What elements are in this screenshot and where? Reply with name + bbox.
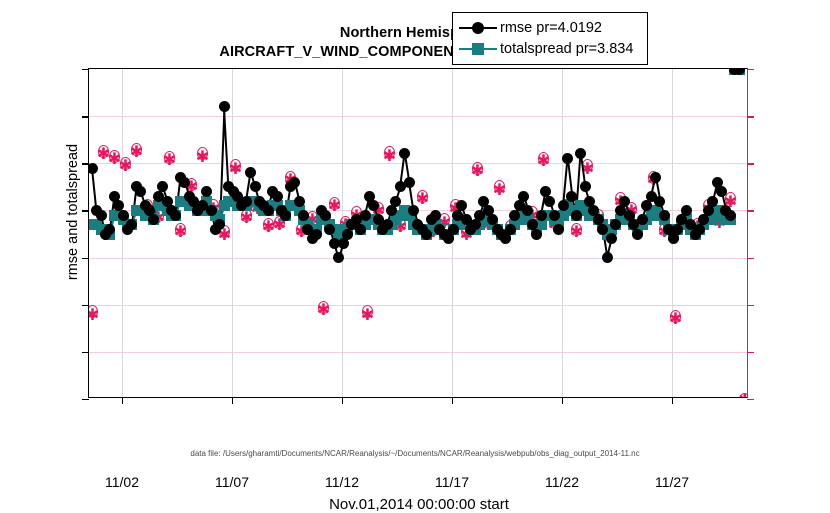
obs-assimilated-marker: ✱ [119, 159, 132, 172]
chart-title-line1: Northern Hemisphere [0, 24, 830, 43]
legend-item-totalspread: totalspread pr=3.834 [459, 38, 641, 59]
rmse-point [707, 196, 718, 207]
rmse-point [390, 196, 401, 207]
rmse-point [382, 219, 393, 230]
y-tick-right [747, 163, 754, 164]
rmse-point [135, 186, 146, 197]
rmse-point [734, 69, 745, 75]
rmse-point [470, 219, 481, 230]
rmse-point [360, 210, 371, 221]
chart-title: Northern Hemisphere AIRCRAFT_V_WIND_COMP… [0, 24, 830, 62]
x-tick-label: 11/27 [637, 474, 707, 490]
obs-assimilated-marker: ✱ [163, 153, 176, 166]
rmse-point [509, 210, 520, 221]
rmse-point [342, 229, 353, 240]
x-tick-label: 11/12 [307, 474, 377, 490]
rmse-point [355, 224, 366, 235]
rmse-point [571, 210, 582, 221]
y-tick-right [747, 305, 754, 306]
rmse-point [681, 205, 692, 216]
obs-assimilated-marker: ✱ [174, 225, 187, 238]
rmse-point [206, 205, 217, 216]
rmse-point [118, 210, 129, 221]
rmse-point [558, 200, 569, 211]
x-tick-label: 11/17 [417, 474, 487, 490]
rmse-point [619, 196, 630, 207]
rmse-point [89, 163, 98, 174]
rmse-point [399, 148, 410, 159]
rmse-point [672, 224, 683, 235]
obs-assimilated-marker: ✱ [738, 393, 747, 398]
rmse-point [602, 252, 613, 263]
rmse-point [421, 229, 432, 240]
x-tick-label: 11/22 [527, 474, 597, 490]
legend-swatch-rmse [459, 20, 497, 36]
x-tick [342, 397, 343, 404]
rmse-point [96, 210, 107, 221]
gridline-vertical [232, 69, 233, 397]
rmse-point [219, 101, 230, 112]
rmse-point [553, 224, 564, 235]
y-tick-left [82, 305, 89, 306]
rmse-point [668, 233, 679, 244]
obs-assimilated-marker: ✱ [570, 225, 583, 238]
rmse-point [654, 196, 665, 207]
obs-assimilated-marker: ✱ [196, 150, 209, 163]
rmse-point [408, 205, 419, 216]
y-tick-left [82, 116, 89, 117]
y-tick-left [82, 258, 89, 259]
rmse-point [716, 186, 727, 197]
rmse-point [298, 210, 309, 221]
rmse-point [179, 177, 190, 188]
gridline-horizontal [89, 258, 747, 259]
y-tick-right [747, 210, 754, 211]
rmse-point [170, 210, 181, 221]
legend-label-totalspread: totalspread pr=3.834 [500, 41, 633, 57]
obs-assimilated-marker: ✱ [317, 303, 330, 316]
rmse-point [320, 210, 331, 221]
gridline-horizontal [89, 305, 747, 306]
obs-assimilated-marker: ✱ [537, 154, 550, 167]
obs-assimilated-marker: ✱ [89, 308, 99, 321]
square-marker-icon [472, 43, 484, 55]
legend-swatch-totalspread [459, 41, 497, 57]
rmse-point [703, 205, 714, 216]
y-tick-left [82, 399, 89, 400]
x-tick [672, 397, 673, 404]
rmse-point [650, 172, 661, 183]
rmse-point [280, 210, 291, 221]
legend-label-rmse: rmse pr=4.0192 [500, 20, 602, 36]
obs-assimilated-marker: ✱ [130, 145, 143, 158]
obs-assimilated-marker: ✱ [383, 149, 396, 162]
rmse-point [338, 238, 349, 249]
gridline-horizontal [89, 163, 747, 164]
rmse-point [562, 153, 573, 164]
x-tick-label: 11/02 [87, 474, 157, 490]
y-axis-title-left: rmse and totalspread [65, 2, 81, 422]
plot-canvas: ✱✱✱✱✱✱✱✱✱✱✱✱✱✱✱✱✱✱✱✱✱✱✱✱✱✱✱✱✱✱✱✱✱✱✱✱✱✱✱✱… [89, 69, 747, 397]
rmse-point [580, 181, 591, 192]
y-tick-right [747, 116, 754, 117]
y-tick-left [82, 163, 89, 164]
y-tick-left [82, 210, 89, 211]
rmse-point [386, 205, 397, 216]
obs-assimilated-marker: ✱ [493, 183, 506, 196]
rmse-point [549, 210, 560, 221]
legend: rmse pr=4.0192 totalspread pr=3.834 [452, 12, 648, 65]
x-tick [122, 397, 123, 404]
rmse-point [289, 177, 300, 188]
rmse-point [575, 148, 586, 159]
rmse-point [500, 233, 511, 244]
rmse-point [597, 224, 608, 235]
rmse-point [448, 224, 459, 235]
y-tick-right [747, 258, 754, 259]
rmse-point [272, 191, 283, 202]
rmse-point [659, 210, 670, 221]
x-tick [232, 397, 233, 404]
obs-assimilated-marker: ✱ [416, 192, 429, 205]
y-tick-right [747, 352, 754, 353]
obs-assimilated-marker: ✱ [361, 308, 374, 321]
obs-assimilated-marker: ✱ [669, 312, 682, 325]
data-file-note: data file: /Users/gharamti/Documents/NCA… [0, 449, 830, 458]
rmse-point [536, 210, 547, 221]
obs-assimilated-marker: ✱ [328, 199, 341, 212]
y-tick-left [82, 352, 89, 353]
x-tick [562, 397, 563, 404]
rmse-point [311, 229, 322, 240]
rmse-point [430, 210, 441, 221]
y-tick-right [747, 69, 754, 70]
rmse-point [263, 205, 274, 216]
y-tick-left [82, 69, 89, 70]
rmse-point [505, 224, 516, 235]
obs-assimilated-marker: ✱ [229, 162, 242, 175]
rmse-point [245, 167, 256, 178]
gridline-horizontal [89, 116, 747, 117]
rmse-point [157, 181, 168, 192]
x-tick-label: 11/07 [197, 474, 267, 490]
rmse-point [250, 181, 261, 192]
chart-title-line2: AIRCRAFT_V_WIND_COMPONENT @ 3.125000e+02… [0, 43, 830, 62]
rmse-point [241, 196, 252, 207]
gridline-horizontal [89, 352, 747, 353]
x-axis-title: Nov.01,2014 00:00:00 start [89, 496, 749, 513]
x-tick [452, 397, 453, 404]
rmse-point [725, 210, 736, 221]
rmse-point [404, 177, 415, 188]
rmse-point [632, 229, 643, 240]
plot-area: ✱✱✱✱✱✱✱✱✱✱✱✱✱✱✱✱✱✱✱✱✱✱✱✱✱✱✱✱✱✱✱✱✱✱✱✱✱✱✱✱… [88, 68, 748, 398]
rmse-point [531, 229, 542, 240]
rmse-point [294, 196, 305, 207]
rmse-point [518, 191, 529, 202]
rmse-point [694, 224, 705, 235]
y-tick-right [747, 399, 754, 400]
rmse-point [544, 196, 555, 207]
obs-assimilated-marker: ✱ [471, 164, 484, 177]
circle-marker-icon [472, 22, 484, 34]
legend-item-rmse: rmse pr=4.0192 [459, 17, 641, 38]
series-line-segment [223, 107, 229, 187]
